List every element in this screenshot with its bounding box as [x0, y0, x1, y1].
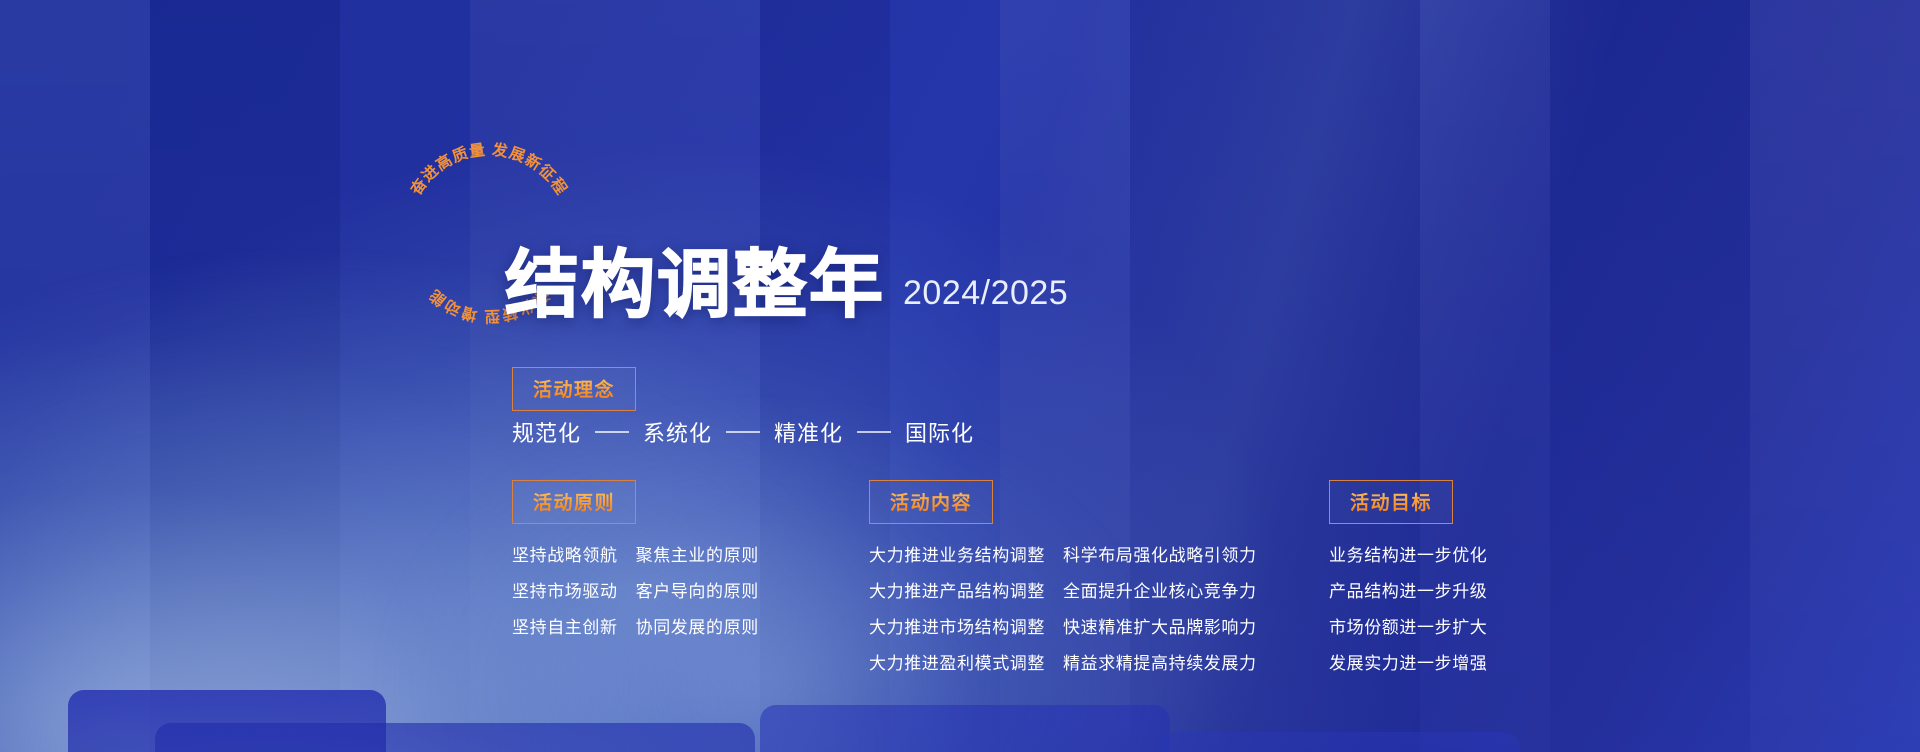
- list-item-secondary: 科学布局强化战略引领力: [1063, 541, 1257, 566]
- list-item-primary: 业务结构进一步优化: [1329, 541, 1487, 566]
- list-item-primary: 大力推进产品结构调整: [869, 577, 1045, 602]
- list-item-primary: 大力推进盈利模式调整: [869, 649, 1045, 674]
- list-item: 市场份额进一步扩大: [1329, 613, 1487, 638]
- badge-goals: 活动目标: [1329, 480, 1453, 524]
- list-item-primary: 大力推进业务结构调整: [869, 541, 1045, 566]
- list-item-primary: 坚持战略领航: [512, 541, 618, 566]
- badge-goals-label: 活动目标: [1350, 488, 1432, 515]
- list-item: 坚持自主创新协同发展的原则: [512, 613, 759, 638]
- list-item-primary: 市场份额进一步扩大: [1329, 613, 1487, 638]
- page-title: 结构调整年: [505, 248, 885, 322]
- concept-item: 精准化: [774, 416, 843, 448]
- list-item: 大力推进市场结构调整快速精准扩大品牌影响力: [869, 613, 1257, 638]
- list-item: 大力推进盈利模式调整精益求精提高持续发展力: [869, 649, 1257, 674]
- badge-principles-label: 活动原则: [533, 488, 615, 515]
- list-item: 产品结构进一步升级: [1329, 577, 1487, 602]
- list-item-primary: 大力推进市场结构调整: [869, 613, 1045, 638]
- badge-contents: 活动内容: [869, 480, 993, 524]
- list-item: 发展实力进一步增强: [1329, 649, 1487, 674]
- concept-keyword-line: 规范化系统化精准化国际化: [512, 416, 974, 448]
- list-item: 业务结构进一步优化: [1329, 541, 1487, 566]
- list-item-secondary: 聚焦主业的原则: [636, 541, 759, 566]
- list-item-secondary: 协同发展的原则: [636, 613, 759, 638]
- principles-list: 坚持战略领航聚焦主业的原则坚持市场驱动客户导向的原则坚持自主创新协同发展的原则: [512, 541, 759, 638]
- emblem-arc-top-text: 奋进高质量 发展新征程: [406, 140, 571, 200]
- column-goals: 活动目标 业务结构进一步优化产品结构进一步升级市场份额进一步扩大发展实力进一步增…: [1329, 480, 1487, 674]
- list-item-secondary: 精益求精提高持续发展力: [1063, 649, 1257, 674]
- badge-principles: 活动原则: [512, 480, 636, 524]
- list-item-secondary: 快速精准扩大品牌影响力: [1063, 613, 1257, 638]
- list-item-primary: 产品结构进一步升级: [1329, 577, 1487, 602]
- concept-item: 规范化: [512, 416, 581, 448]
- list-item-primary: 坚持市场驱动: [512, 577, 618, 602]
- list-item-primary: 发展实力进一步增强: [1329, 649, 1487, 674]
- year-label: 2024/2025: [903, 274, 1068, 313]
- list-item: 坚持战略领航聚焦主业的原则: [512, 541, 759, 566]
- contents-list: 大力推进业务结构调整科学布局强化战略引领力大力推进产品结构调整全面提升企业核心竞…: [869, 541, 1257, 674]
- list-item-secondary: 全面提升企业核心竞争力: [1063, 577, 1257, 602]
- list-item: 坚持市场驱动客户导向的原则: [512, 577, 759, 602]
- column-contents: 活动内容 大力推进业务结构调整科学布局强化战略引领力大力推进产品结构调整全面提升…: [869, 480, 1257, 674]
- list-item: 大力推进产品结构调整全面提升企业核心竞争力: [869, 577, 1257, 602]
- badge-concept-label: 活动理念: [533, 375, 615, 402]
- concept-item: 国际化: [905, 416, 974, 448]
- concept-item: 系统化: [643, 416, 712, 448]
- column-principles: 活动原则 坚持战略领航聚焦主业的原则坚持市场驱动客户导向的原则坚持自主创新协同发…: [512, 480, 759, 638]
- title-row: 结构调整年 2024/2025: [505, 248, 1068, 322]
- list-item: 大力推进业务结构调整科学布局强化战略引领力: [869, 541, 1257, 566]
- concept-separator: [857, 431, 891, 433]
- badge-contents-label: 活动内容: [890, 488, 972, 515]
- list-item-primary: 坚持自主创新: [512, 613, 618, 638]
- badge-concept: 活动理念: [512, 367, 636, 411]
- concept-separator: [726, 431, 760, 433]
- concept-separator: [595, 431, 629, 433]
- goals-list: 业务结构进一步优化产品结构进一步升级市场份额进一步扩大发展实力进一步增强: [1329, 541, 1487, 674]
- list-item-secondary: 客户导向的原则: [636, 577, 759, 602]
